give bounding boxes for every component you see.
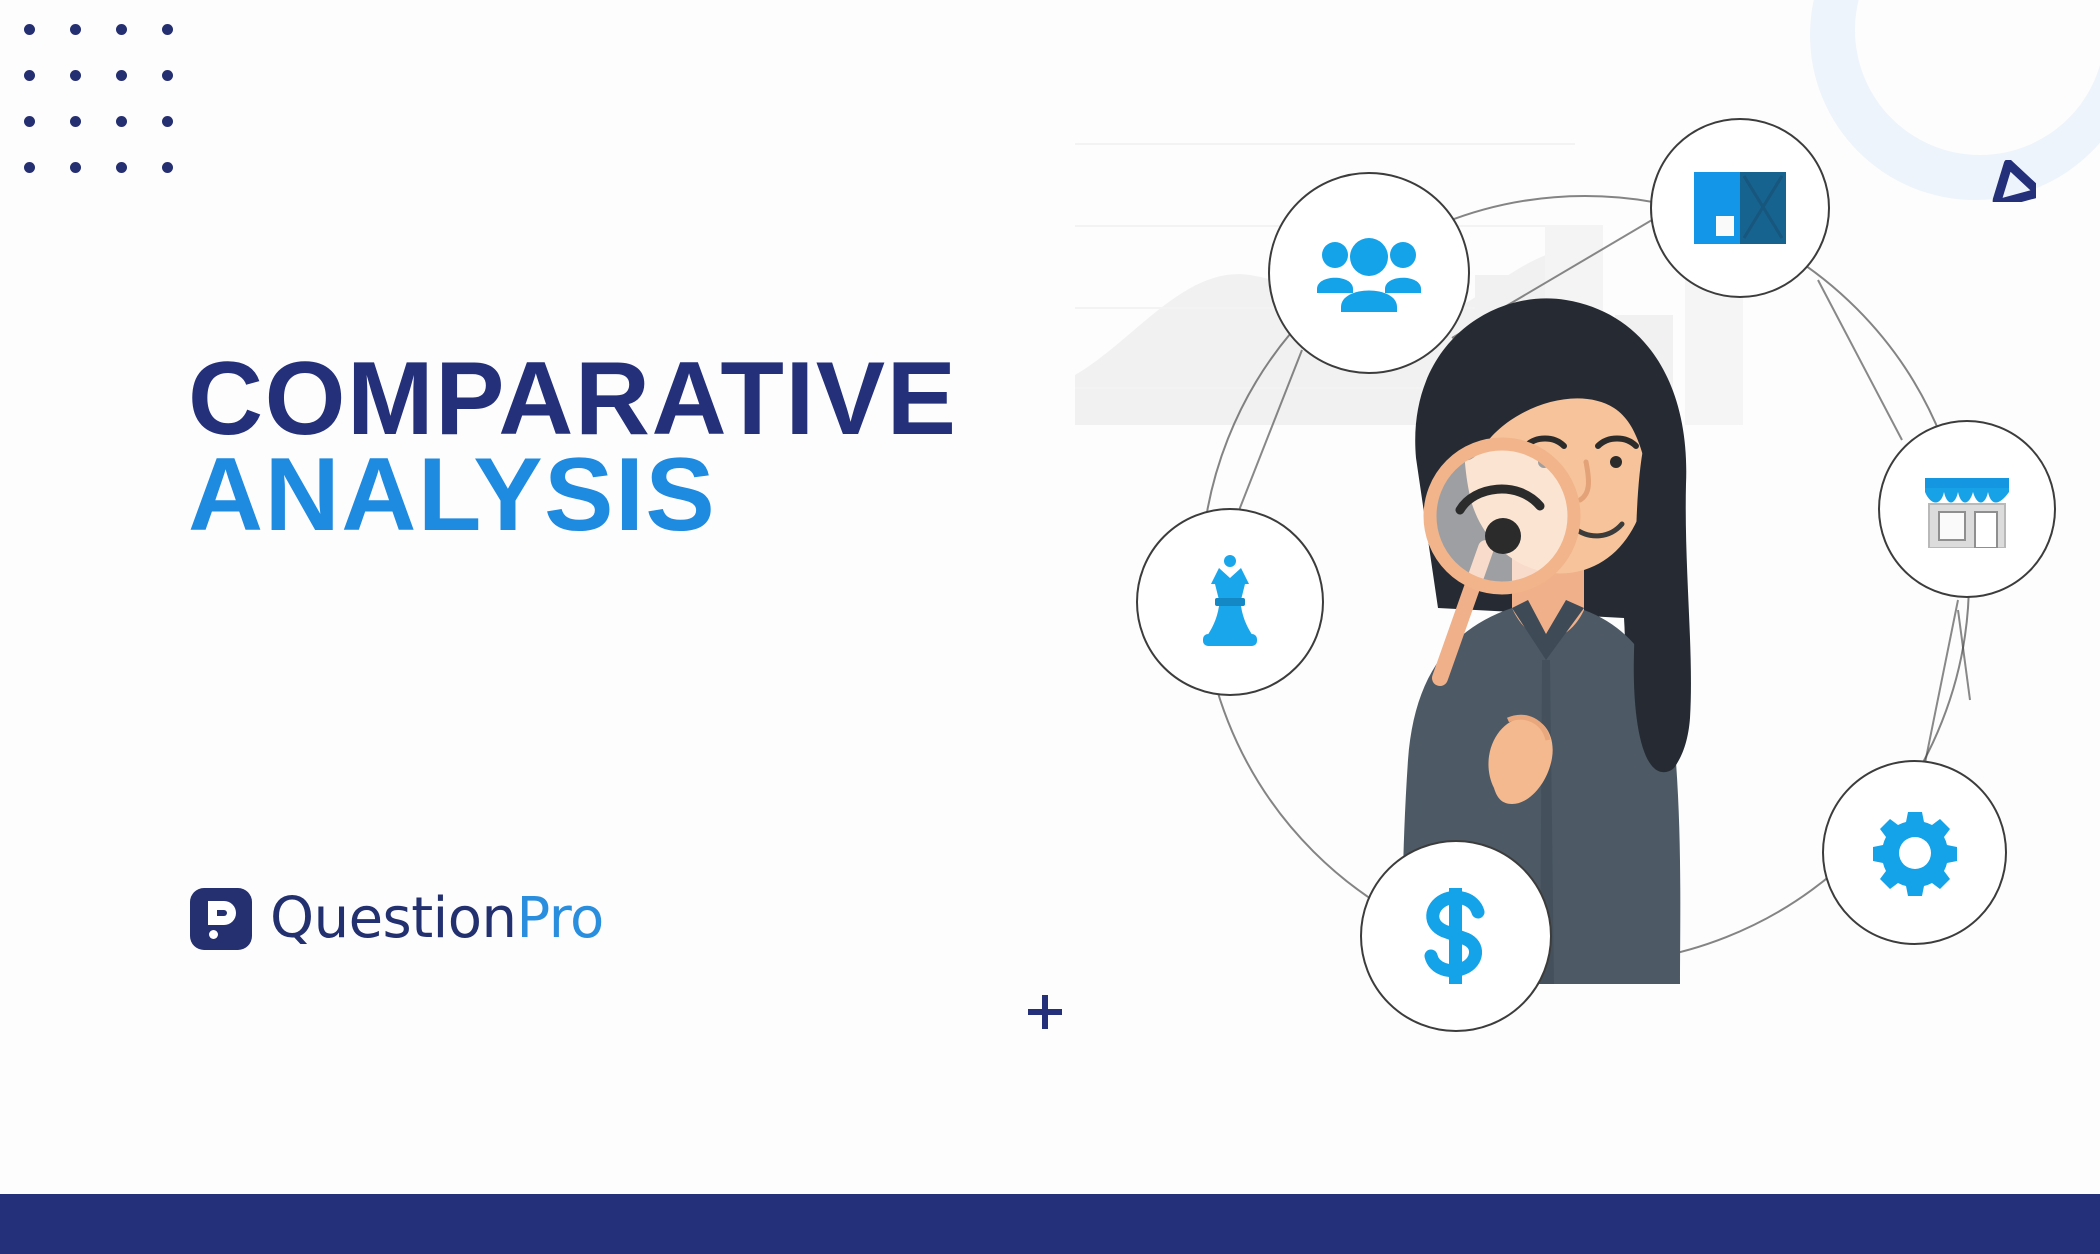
node-store[interactable] <box>1878 420 2056 598</box>
node-gear[interactable] <box>1822 760 2007 945</box>
node-people[interactable] <box>1268 172 1470 374</box>
node-compare[interactable] <box>1650 118 1830 298</box>
page-title: COMPARATIVE ANALYSIS <box>188 352 1088 543</box>
questionpro-logo[interactable]: QuestionPro <box>190 886 604 951</box>
brand-wordmark-pro: Pro <box>516 886 603 951</box>
page-title-line1: COMPARATIVE <box>188 352 1088 448</box>
poster-canvas: COMPARATIVE ANALYSIS QuestionPro <box>0 0 2100 1254</box>
dot-grid-icon <box>18 18 202 202</box>
bottom-bar <box>0 1194 2100 1254</box>
dollar-sign-icon <box>1422 888 1490 984</box>
woman-with-magnifying-glass-illustration <box>1040 100 2060 1100</box>
storefront-icon <box>1919 470 2015 548</box>
brand-wordmark: QuestionPro <box>270 886 604 951</box>
people-group-icon <box>1315 233 1423 313</box>
node-money[interactable] <box>1360 840 1552 1032</box>
compare-layout-icon <box>1694 172 1786 244</box>
chess-queen-icon <box>1195 554 1265 650</box>
node-chess[interactable] <box>1136 508 1324 696</box>
gear-icon <box>1872 810 1958 896</box>
page-title-line2: ANALYSIS <box>188 448 1088 544</box>
questionpro-p-icon <box>190 888 252 950</box>
brand-wordmark-question: Question <box>270 886 516 951</box>
